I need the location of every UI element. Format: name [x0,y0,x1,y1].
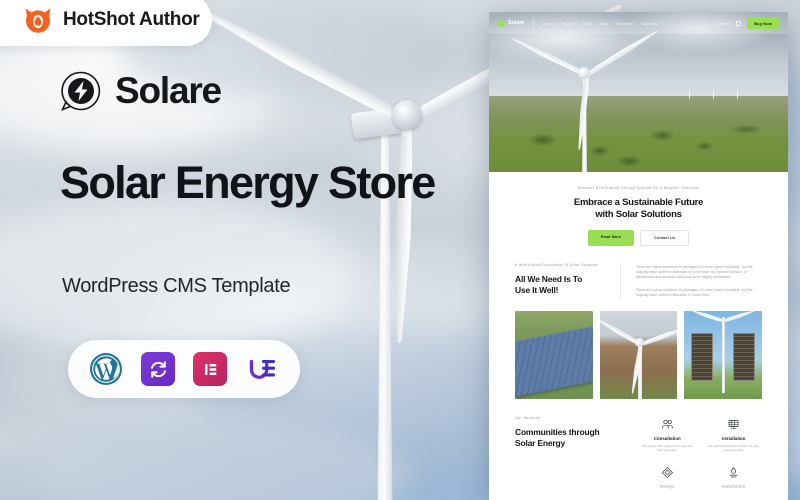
about-heading-column: A World-Wide Distributor Of Solar Suppli… [515,263,621,298]
service-title: Consultation [639,436,696,441]
brand-name: Solare [115,70,221,112]
service-title: Installation [706,436,763,441]
community-heading-line2: Solar Energy [515,438,565,448]
consultation-icon [661,418,674,435]
mockup-nav-items[interactable]: Home Pages Shop Blog Elements Contacts [543,21,658,26]
flame-cat-icon [24,7,52,33]
hero-heading-line2: with Solar Solutions [595,209,681,220]
nav-item-elements[interactable]: Elements [616,21,633,26]
hotshot-author-label: HotShot Author [63,9,200,31]
solar-array-turbine-image[interactable] [684,311,762,399]
template-preview-mockup[interactable]: Solare Home Pages Shop Blog Elements Con… [489,12,788,500]
buy-now-button[interactable]: Buy Now [747,17,779,29]
card-solar-array [691,333,713,381]
unlimited-elements-icon [245,352,279,386]
installation-icon [727,418,740,435]
card-turbine-hub [635,338,644,347]
hero-landscape [489,96,788,172]
wind-turbine-image[interactable] [600,311,678,399]
card-solar-array [733,333,755,381]
card-turbine-blade [692,311,726,323]
revolution-slider-icon [141,352,175,386]
hero-primary-button[interactable]: Read More [588,230,634,246]
distant-turbine [689,90,690,99]
about-paragraph-2: There are many variations of passages of… [636,288,762,298]
hero-buttons[interactable]: Read More Contact Us [515,230,762,246]
mockup-logo-text: Solare [508,20,524,26]
nav-item-home[interactable]: Home [543,21,554,26]
promo-panel: HotShot Author Solare Solar Energy Store… [0,0,470,500]
about-text-column: There are many variations of passages of… [636,263,762,298]
hero-eyebrow: Discover Eco-Friendly Energy Options For… [515,186,762,190]
gallery-row [489,298,788,399]
hero-secondary-button[interactable]: Contact Us [640,230,689,246]
mockup-navbar[interactable]: Solare Home Pages Shop Blog Elements Con… [489,12,788,34]
solar-bolt-logo-icon [60,70,102,112]
wordpress-icon [89,352,123,386]
search-icon[interactable]: Search [718,21,731,26]
hero-heading: Embrace a Sustainable Future with Solar … [515,197,762,221]
brand-lockup: Solare [60,70,221,112]
hero-heading-line1: Embrace a Sustainable Future [574,197,703,208]
nav-item-contacts[interactable]: Contacts [642,21,659,26]
nav-actions[interactable]: Search Buy Now [718,17,780,29]
page-title: Solar Energy Store [60,157,460,208]
tech-badges [68,340,300,398]
mockup-page-body: Discover Eco-Friendly Energy Options For… [489,172,788,500]
about-heading-line2: Use It Well! [515,285,558,295]
nav-divider [533,18,534,28]
card-turbine-blade [722,311,756,323]
mockup-logo[interactable]: Solare [498,20,524,27]
about-eyebrow: A World-Wide Distributor Of Solar Suppli… [515,263,610,267]
community-eyebrow: Our Services [515,416,625,420]
hero-copy-section: Discover Eco-Friendly Energy Options For… [489,172,788,246]
distant-turbine [737,90,738,99]
card-turbine-blade [638,325,677,347]
about-heading-line1: All We Need Is To [515,274,582,284]
logo-mark-icon [498,20,505,27]
mockup-bottom-fade [489,474,788,500]
service-item-consultation[interactable]: Consultation We gather data and conduct … [639,418,696,453]
solar-panel-field-image[interactable] [515,311,593,399]
nav-item-pages[interactable]: Pages [562,21,574,26]
elementor-icon [193,352,227,386]
page-subtitle: WordPress CMS Template [62,275,290,298]
hero-turbine-hub [578,67,590,79]
nav-item-shop[interactable]: Shop [582,21,592,26]
mockup-hero-image [489,12,788,172]
community-heading: Communities through Solar Energy [515,427,625,448]
distant-turbine [713,90,714,99]
cart-icon[interactable] [736,21,741,26]
community-heading-line1: Communities through [515,427,600,437]
about-paragraph-1: There are many variations of passages of… [636,265,762,281]
about-heading: All We Need Is To Use It Well! [515,274,610,295]
card-turbine-tower [722,317,725,393]
about-section: A World-Wide Distributor Of Solar Suppli… [489,246,788,298]
service-desc: We gather data and conduct site and load… [706,444,763,453]
service-item-installation[interactable]: Installation We gather data and conduct … [706,418,763,453]
hotshot-author-badge: HotShot Author [0,0,212,46]
service-desc: We gather data and conduct site and load… [639,444,696,453]
nav-item-blog[interactable]: Blog [600,21,608,26]
